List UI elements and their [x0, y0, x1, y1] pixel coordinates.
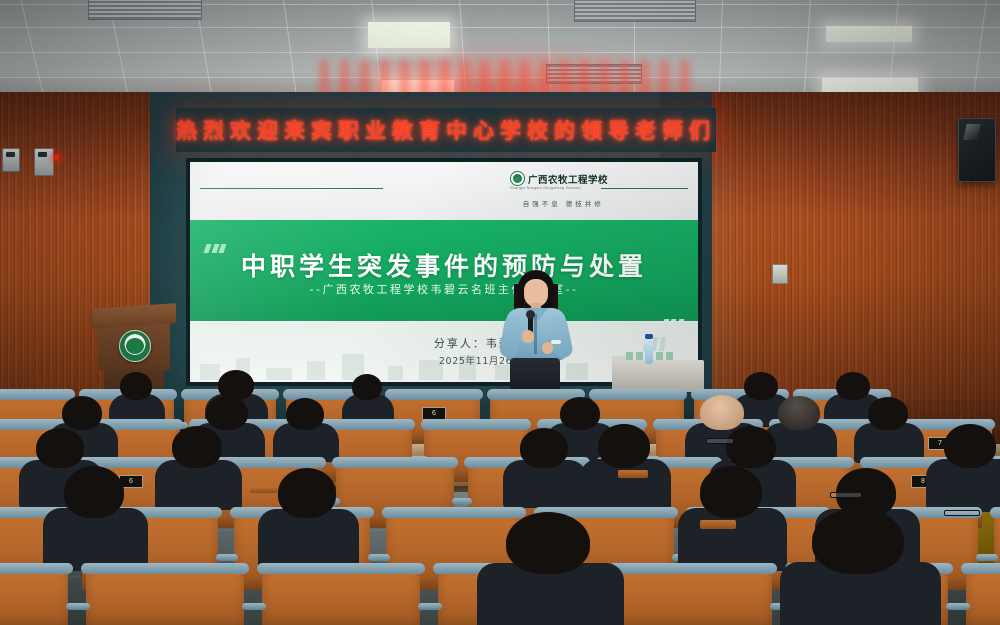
school-crest-icon: [510, 171, 525, 186]
podium-crest-icon: [119, 330, 151, 362]
attendee-head: [120, 372, 152, 400]
attendee-head: [36, 428, 84, 468]
switch-plate: [772, 264, 788, 284]
eyeglasses-icon: [706, 438, 734, 444]
header-rule-left: [200, 188, 383, 190]
seat-armrest: [66, 603, 90, 610]
seat-armrest: [452, 498, 472, 505]
water-bottle: [645, 338, 653, 364]
school-logo-pinyin: Guangxi Nongmu Gongcheng Xuexiao: [510, 186, 581, 190]
ceiling: [0, 0, 1000, 104]
auditorium-seat[interactable]: [966, 572, 1000, 625]
school-logo: 广西农牧工程学校: [510, 171, 608, 186]
attendee-head: [560, 397, 600, 430]
air-vent: [88, 0, 202, 20]
seat-armrest: [976, 554, 998, 561]
folding-desk[interactable]: [700, 520, 736, 529]
seat-armrest: [216, 554, 238, 561]
auditorium-seat[interactable]: [86, 572, 244, 625]
folding-desk[interactable]: [618, 470, 648, 478]
led-banner-text: 热烈欢迎来宾职业教育中心学校的领导老师们: [176, 115, 716, 145]
led-welcome-banner: 热烈欢迎来宾职业教育中心学校的领导老师们: [176, 108, 716, 152]
auditorium-scene: 热烈欢迎来宾职业教育中心学校的领导老师们 广西农牧工程学校 Guangxi No…: [0, 0, 1000, 625]
attendee-head: [206, 396, 248, 430]
attendee-head: [836, 372, 870, 400]
folding-desk[interactable]: [250, 486, 278, 493]
attendee-head: [700, 466, 762, 518]
projection-screen: 广西农牧工程学校 Guangxi Nongmu Gongcheng Xuexia…: [186, 158, 702, 386]
header-rule-right: [601, 188, 687, 190]
attendee-head: [726, 426, 776, 468]
school-logo-name: 广西农牧工程学校: [528, 172, 608, 186]
air-vent: [574, 0, 696, 22]
camera-unit: [34, 148, 54, 176]
water-bottle-cap: [645, 334, 653, 339]
attendee-head: [352, 374, 382, 400]
slide-title: 中职学生突发事件的预防与处置: [190, 247, 698, 283]
presentation-slide: 广西农牧工程学校 Guangxi Nongmu Gongcheng Xuexia…: [190, 162, 698, 382]
camera-lens-icon: [38, 152, 47, 157]
sensor-lens-icon: [6, 152, 15, 157]
wristwatch-icon: [551, 340, 561, 344]
attendee-head: [944, 424, 996, 468]
eyeglasses-icon: [830, 492, 862, 498]
skyline-block: [266, 368, 292, 380]
skyline-block: [388, 366, 403, 380]
attendee-head: [506, 512, 590, 574]
side-table: [612, 360, 704, 392]
attendee-head: [598, 424, 650, 468]
eyeglasses-icon: [944, 510, 980, 516]
slide-title-band: 中职学生突发事件的预防与处置 --广西农牧工程学校韦碧云名班主任工作室--: [190, 220, 698, 321]
attendee-head: [62, 396, 102, 430]
slide-subtitle: --广西农牧工程学校韦碧云名班主任工作室--: [190, 281, 698, 297]
presenter-placket: [534, 314, 537, 354]
skyline-block: [200, 364, 220, 380]
attendee-head: [278, 468, 336, 518]
auditorium-seat[interactable]: [614, 572, 772, 625]
attendee-head: [520, 428, 568, 468]
sensor-unit: [2, 148, 20, 172]
speaker-box: [958, 118, 996, 182]
auditorium-seat[interactable]: [262, 572, 420, 625]
attendee-head: [286, 398, 324, 430]
microphone-head-icon: [526, 310, 535, 319]
presenter-hand-left: [522, 330, 534, 343]
presenter-skirt: [510, 358, 560, 392]
panel-light: [826, 26, 912, 42]
attendee-head: [778, 396, 820, 430]
seat-armrest: [242, 603, 266, 610]
auditorium-seat[interactable]: [0, 572, 68, 625]
presenter-speaker: [498, 270, 576, 390]
attendee-head: [868, 397, 908, 430]
skyline-block: [307, 361, 325, 380]
attendee-head: [744, 372, 778, 400]
attendee-head: [812, 508, 904, 574]
attendee-head: [64, 466, 124, 518]
status-led-icon: [54, 155, 59, 160]
school-motto: 自强不息 德技并修: [523, 198, 604, 208]
seat-armrest: [418, 603, 442, 610]
attendee-head: [172, 426, 222, 468]
attendee-head: [700, 395, 744, 430]
seat-armrest: [368, 554, 390, 561]
seat-armrest: [946, 603, 970, 610]
slide-header: 广西农牧工程学校 Guangxi Nongmu Gongcheng Xuexia…: [190, 162, 698, 220]
